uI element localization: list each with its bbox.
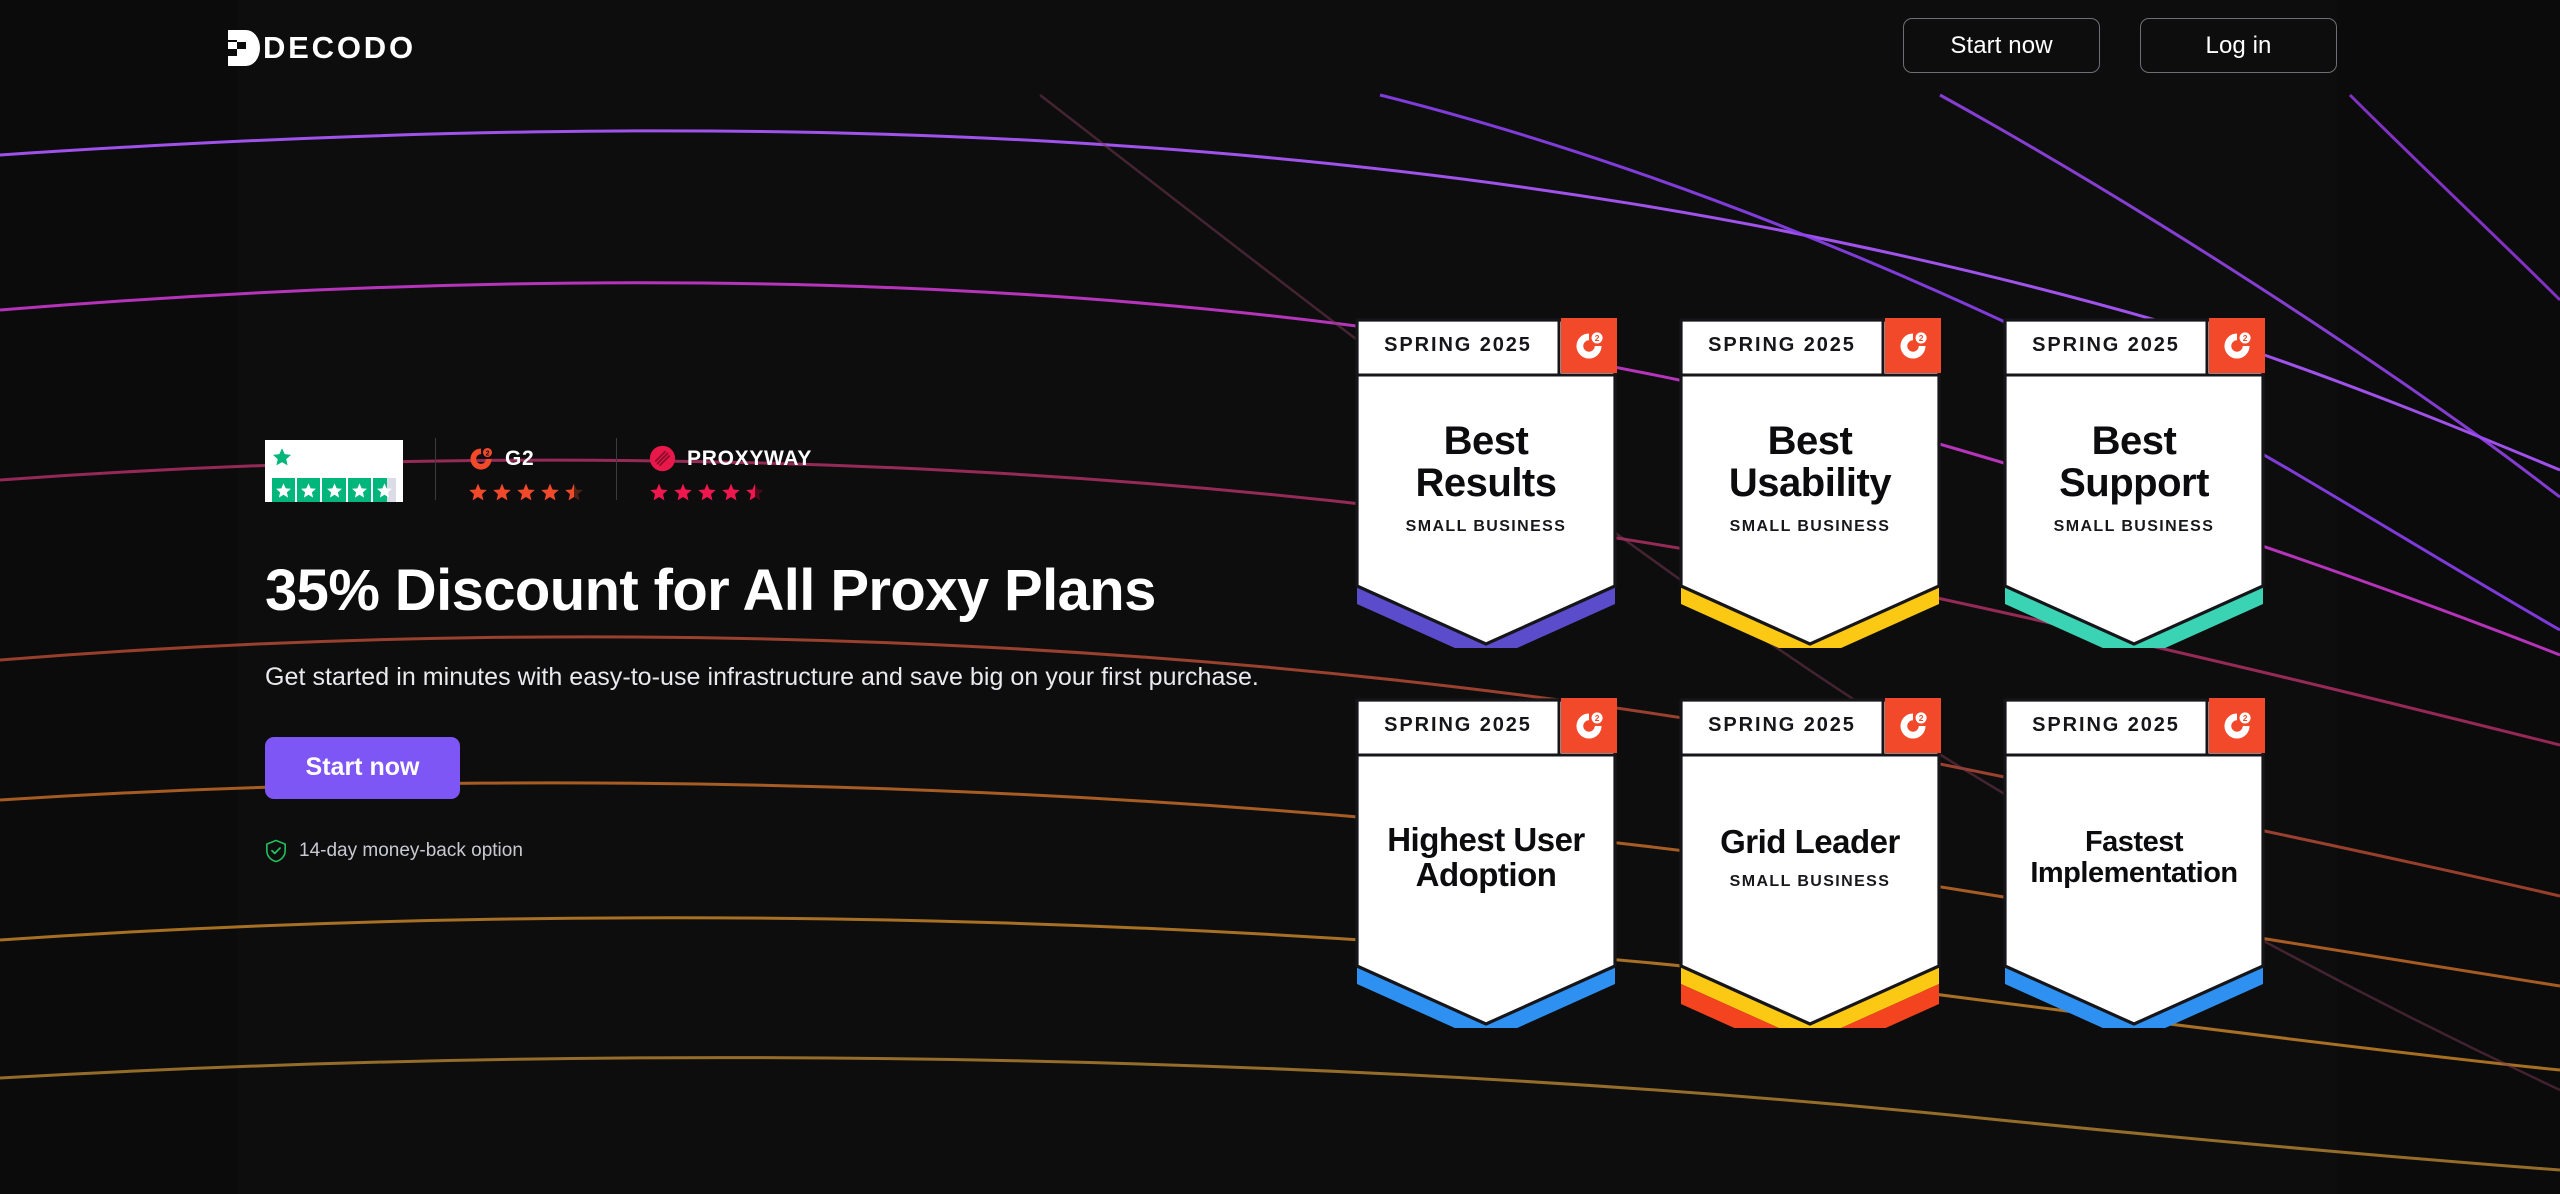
badge-body: Grid Leader SMALL BUSINESS bbox=[1679, 753, 1941, 963]
trust-divider-1 bbox=[435, 438, 436, 500]
proxyway-stars bbox=[649, 482, 812, 502]
badge-title: FastestImplementation bbox=[2030, 827, 2237, 888]
badge-title: BestSupport bbox=[2059, 420, 2209, 505]
g2-stars bbox=[468, 482, 584, 502]
proxyway-star-5-half bbox=[745, 482, 765, 502]
header-start-now-button[interactable]: Start now bbox=[1903, 18, 2100, 73]
svg-text:2: 2 bbox=[2243, 713, 2248, 723]
badge-body: BestUsability SMALL BUSINESS bbox=[1679, 373, 1941, 583]
badge-season-label: SPRING 2025 bbox=[1355, 318, 1561, 373]
logo-wordmark: DECODO bbox=[263, 30, 416, 66]
decodo-logo[interactable]: DECODO bbox=[228, 30, 416, 66]
proxyway-star-2 bbox=[673, 482, 693, 502]
badge-title-line: Implementation bbox=[2030, 858, 2237, 889]
trustpilot-star-1 bbox=[272, 478, 295, 502]
hero-subheadline: Get started in minutes with easy-to-use … bbox=[265, 663, 1315, 692]
page-title: 35% Discount for All Proxy Plans bbox=[265, 560, 1315, 623]
hero-start-now-button[interactable]: Start now bbox=[265, 737, 460, 799]
g2-star-1 bbox=[468, 482, 488, 502]
decodo-d-mark bbox=[228, 30, 260, 66]
badge-header: SPRING 2025 2 bbox=[1355, 318, 1617, 373]
g2-badges-grid: SPRING 2025 2 BestResults SMALL BUSINESS… bbox=[1355, 318, 2265, 1078]
g2-logo-icon: 2 bbox=[1561, 318, 1617, 373]
g2-logo-icon: 2 bbox=[1885, 698, 1941, 753]
badge-season-label: SPRING 2025 bbox=[1355, 698, 1561, 753]
badge-body: BestResults SMALL BUSINESS bbox=[1355, 373, 1617, 583]
badge-body: Highest UserAdoption bbox=[1355, 753, 1617, 963]
trustpilot-star-icon bbox=[272, 447, 292, 467]
svg-text:2: 2 bbox=[2243, 333, 2248, 343]
badge-title-line: Grid Leader bbox=[1720, 825, 1900, 860]
g2-star-3 bbox=[516, 482, 536, 502]
g2-badge[interactable]: SPRING 2025 2 Grid Leader SMALL BUSINESS bbox=[1679, 698, 1941, 1028]
header-actions: Start now Log in bbox=[1903, 18, 2337, 73]
badge-subtitle: SMALL BUSINESS bbox=[1406, 518, 1567, 536]
badge-body: FastestImplementation bbox=[2003, 753, 2265, 963]
badge-title-line: Best bbox=[1416, 420, 1557, 462]
badge-subtitle: SMALL BUSINESS bbox=[1730, 518, 1891, 536]
g2-rating[interactable]: 2 G2 bbox=[468, 430, 584, 502]
badge-title-line: Results bbox=[1416, 462, 1557, 504]
badge-title-line: Support bbox=[2059, 462, 2209, 504]
trust-divider-2 bbox=[616, 438, 617, 500]
trustpilot-rating[interactable] bbox=[265, 430, 403, 502]
trustpilot-star-4 bbox=[348, 478, 371, 502]
svg-text:2: 2 bbox=[1595, 713, 1600, 723]
badge-title: Highest UserAdoption bbox=[1387, 823, 1585, 893]
badge-season-label: SPRING 2025 bbox=[1679, 318, 1885, 373]
badge-header: SPRING 2025 2 bbox=[1355, 698, 1617, 753]
landing-page: DECODO Start now Log in bbox=[0, 0, 2560, 1194]
badge-header: SPRING 2025 2 bbox=[1679, 698, 1941, 753]
trustpilot-stars bbox=[272, 478, 396, 502]
g2-badge[interactable]: SPRING 2025 2 BestUsability SMALL BUSINE… bbox=[1679, 318, 1941, 648]
badge-header: SPRING 2025 2 bbox=[2003, 698, 2265, 753]
svg-text:2: 2 bbox=[1919, 713, 1924, 723]
hero-left-column: 2 G2 bbox=[265, 430, 1315, 863]
g2-badge[interactable]: SPRING 2025 2 BestSupport SMALL BUSINESS bbox=[2003, 318, 2265, 648]
badge-title-line: Highest User bbox=[1387, 823, 1585, 858]
svg-text:2: 2 bbox=[1919, 333, 1924, 343]
badge-season-label: SPRING 2025 bbox=[1679, 698, 1885, 753]
badge-title: Grid Leader bbox=[1720, 825, 1900, 860]
g2-logo-icon: 2 bbox=[1885, 318, 1941, 373]
guarantee-label: 14-day money-back option bbox=[299, 840, 523, 862]
badge-title-line: Adoption bbox=[1387, 858, 1585, 893]
badge-title-line: Usability bbox=[1729, 462, 1891, 504]
badge-header: SPRING 2025 2 bbox=[1679, 318, 1941, 373]
money-back-guarantee: 14-day money-back option bbox=[265, 839, 1315, 863]
trustpilot-star-5-half bbox=[373, 478, 396, 502]
badge-title-line: Fastest bbox=[2030, 827, 2237, 858]
g2-badge[interactable]: SPRING 2025 2 BestResults SMALL BUSINESS bbox=[1355, 318, 1617, 648]
g2-logo-icon: 2 bbox=[468, 446, 494, 472]
g2-star-2 bbox=[492, 482, 512, 502]
trust-signals-row: 2 G2 bbox=[265, 430, 1315, 502]
g2-logo-icon: 2 bbox=[1561, 698, 1617, 753]
badge-season-label: SPRING 2025 bbox=[2003, 698, 2209, 753]
badge-title: BestResults bbox=[1416, 420, 1557, 505]
trustpilot-star-2 bbox=[297, 478, 320, 502]
proxyway-star-4 bbox=[721, 482, 741, 502]
badge-title: BestUsability bbox=[1729, 420, 1891, 505]
proxyway-star-3 bbox=[697, 482, 717, 502]
g2-star-4 bbox=[540, 482, 560, 502]
header-login-button[interactable]: Log in bbox=[2140, 18, 2337, 73]
svg-text:2: 2 bbox=[486, 450, 490, 457]
badge-header: SPRING 2025 2 bbox=[2003, 318, 2265, 373]
badge-title-line: Best bbox=[1729, 420, 1891, 462]
badge-subtitle: SMALL BUSINESS bbox=[1730, 873, 1891, 891]
g2-logo-icon: 2 bbox=[2209, 318, 2265, 373]
proxyway-star-1 bbox=[649, 482, 669, 502]
badge-season-label: SPRING 2025 bbox=[2003, 318, 2209, 373]
g2-badge[interactable]: SPRING 2025 2 FastestImplementation bbox=[2003, 698, 2265, 1028]
trustpilot-star-3 bbox=[322, 478, 345, 502]
svg-text:2: 2 bbox=[1595, 333, 1600, 343]
site-header: DECODO Start now Log in bbox=[0, 0, 2560, 100]
shield-check-icon bbox=[265, 839, 287, 863]
g2-badge[interactable]: SPRING 2025 2 Highest UserAdoption bbox=[1355, 698, 1617, 1028]
proxyway-label: PROXYWAY bbox=[687, 447, 812, 471]
g2-logo-icon: 2 bbox=[2209, 698, 2265, 753]
badge-title-line: Best bbox=[2059, 420, 2209, 462]
g2-label: G2 bbox=[505, 447, 534, 471]
badge-subtitle: SMALL BUSINESS bbox=[2054, 518, 2215, 536]
badge-body: BestSupport SMALL BUSINESS bbox=[2003, 373, 2265, 583]
proxyway-logo-icon bbox=[649, 445, 676, 472]
proxyway-rating[interactable]: PROXYWAY bbox=[649, 430, 812, 502]
g2-star-5-half bbox=[564, 482, 584, 502]
